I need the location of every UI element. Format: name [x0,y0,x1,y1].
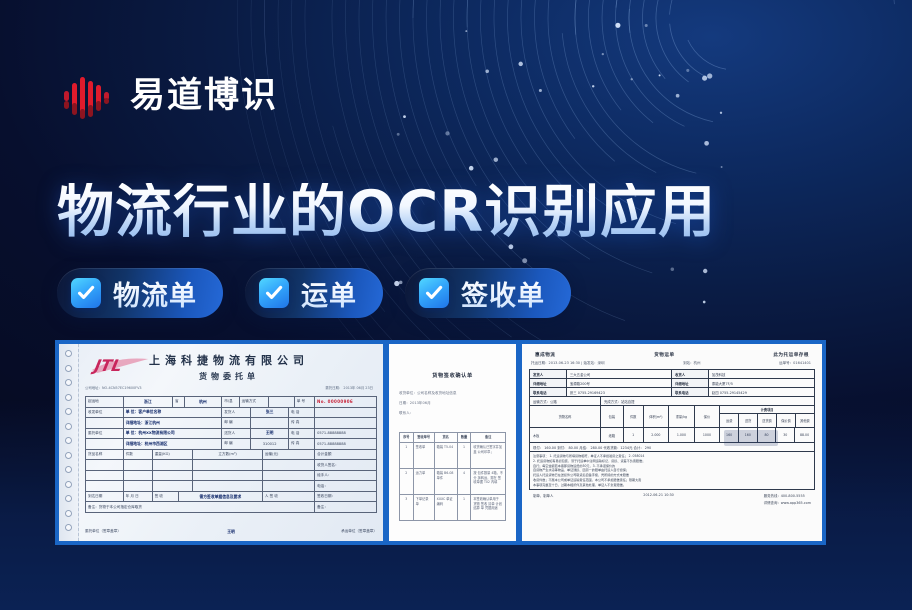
cell: 运输(元) [263,450,315,460]
table-row: 发货人 三大五金公司 收货人 加茂科技 [530,370,814,379]
table-row: 货品名称 件数 重量(KG) 立方数(m³) 运输(元) 合计金额 [86,450,376,461]
document-sample-gallery: JTL 上海科捷物流有限公司 货物委托单 公司地址：NO-4CN57EC1960… [55,340,826,545]
cell: 运输方式：公路 [530,397,601,405]
badge-waybill[interactable]: 运单 [245,268,383,318]
cell: 1000 [695,428,721,442]
cell: 1 [458,443,472,468]
doc1-meta-right: 委托日期： 2013年 06月 23日 [325,385,373,390]
table-row: 到达日期 年 月 日 签 收 需方签收单据信息及要求 人 签 收 签收日期： [86,492,376,503]
cell: 邮 编 [222,418,251,428]
svg-text:JTL: JTL [90,356,124,375]
table-row: 备注：货物于本公司指定仓库取货 备注： [86,502,376,512]
column-header: 件数 [624,406,644,427]
cell: 重量(KG) [153,450,194,460]
column-header: 送货费 [758,414,777,427]
column-header: 数量 [458,433,472,442]
column-header: 货物名称 [530,406,601,427]
table-row: 详细地址：浙江杭州 邮 编 传 真 [86,418,376,429]
table-row: 运输方式：公路 完成方式：站站自提 [530,397,814,406]
cell: 邮 编 [222,439,251,449]
cell: 货品名称 [86,450,124,460]
table-header-row: 序号 签收单号 货名 数量 备注 [400,433,505,443]
column-header: 计费项目 [720,406,814,414]
cell: 立方数(m³) [193,450,263,460]
cell: 电 话 [289,408,315,418]
cell: 委托单位 [86,429,124,439]
cell: 收货人 [672,370,709,378]
doc1-footer: 委托单位（签章盖章） 王明 承运单位（签章盖章） [85,529,377,535]
cell: 浙江 [124,397,173,407]
cell: 赵四 0755-29145429 [709,388,814,396]
cell: 经手人： [315,471,376,481]
cell: 详细地址：浙江杭州 [124,418,223,428]
cell: 泰能大厦7F/5 [709,379,814,387]
doc3-website: 详情查询：www.app365.com [764,501,811,505]
cell: 起运地 [86,397,124,407]
doc3-title: 货物运单 [654,352,674,358]
cell: 宝源路200号 [567,379,672,387]
cell: 备注： [315,502,376,512]
cell: XXXC 单证编码 [435,495,458,520]
cell: 30 [776,428,795,442]
cell: 本签收确认单用于 货物 签收 清单 计划结算 单 凭据用途 [471,495,505,520]
cell [86,418,124,428]
badge-label: 物流单 [113,274,197,313]
cell: 备注：货物于本公司指定仓库取货 [86,502,315,512]
cell: 详细地址：杭州市西湖区 [124,439,223,449]
cell: 加茂科技 [709,370,814,378]
cell: 人 签 收 [263,492,315,502]
cell [86,439,124,449]
cell: 详细地址 [530,379,567,387]
cell: 完成方式：站站自提 [601,397,814,405]
cell: 收货人签名： [315,460,376,470]
badge-label: 运单 [301,274,357,313]
cell: 传 真 [289,439,315,449]
doc2-table: 序号 签收单号 货名 数量 备注 1 签收单 箱装 T5-04 1 收货确认已签… [399,432,506,521]
cell: 电话： [315,481,376,491]
table-row: 经手人： [86,471,376,482]
cell: 年 月 日 [124,492,153,502]
cell: 省 [173,397,185,407]
badge-label: 签收单 [461,274,545,313]
doc3-copy-label: 此为托运单存根 [773,352,809,358]
cell: 3 [400,495,414,520]
column-header: 重量/kg [669,406,695,427]
doc3-footer: 制单、制单人 2012-06-21 10:30 服务热线：400-800-555… [529,490,815,505]
cell: 88.00 [795,428,814,442]
cell: 运输方式 [240,397,269,407]
doc3-subheader: 托运日期：2013-06-23 16:30 | 始发站：深圳 到站：杭州 运单号… [529,358,815,369]
doc3-footer-date: 2012-06-21 10:30 [643,493,674,505]
column-header: 其他费 [796,414,814,427]
column-header: 送货 [739,414,758,427]
column-header: 保价费 [777,414,796,427]
doc1-meta: 公司地址：NO-4CN57EC19600FV3 委托日期： 2013年 06月 … [85,385,373,390]
doc3-stamp-overlay [724,430,778,446]
column-header: 运费 [720,414,739,427]
cell: 箱装 B6-08单件 [435,469,458,494]
cell: 发货人 [530,370,567,378]
table-row: 收货人签名： [86,460,376,471]
doc3-footer-left: 制单、制单人 [533,493,553,505]
column-header: 保价 [695,406,721,427]
cell: 联系电话 [672,388,709,396]
cell: 需方签收单据信息及要求 [179,492,263,502]
cell: 纸箱 [601,428,624,442]
cell: 到达日期 [86,492,124,502]
cell: 电 话 [289,429,315,439]
table-row: 1 签收单 箱装 T5-04 1 收货确认已签字并加盖 公司印章； [400,443,505,469]
cell: 张三 [251,408,289,418]
cell: 2 [400,469,414,494]
feature-badge-list: 物流单 运单 签收单 [57,268,571,318]
document-logistics-consignment-note[interactable]: JTL 上海科捷物流有限公司 货物委托单 公司地址：NO-4CN57EC1960… [55,340,386,545]
tractor-feed-holes [59,344,79,541]
badge-receipt-note[interactable]: 签收单 [405,268,571,318]
table-row: 2 运力单 箱装 B6-08单件 4 按 包件数量 4箱，不分 拆转运，需在 签… [400,469,505,495]
cell: 下单记录 单 [414,495,435,520]
brand-name: 易道博识 [130,79,278,114]
cell: 签收单 [414,443,435,468]
cell: 0571-88888888 [315,429,376,439]
soundwave-circle-logo-icon [58,68,114,124]
badge-logistics-note[interactable]: 物流单 [57,268,223,318]
check-icon [419,278,449,308]
cell: 市/县 [222,397,239,407]
table-row: 3 下单记录 单 XXXC 单证编码 1 本签收确认单用于 货物 签收 清单 计… [400,495,505,521]
column-header: 序号 [400,433,414,442]
column-header: 包装 [601,406,624,427]
cell: 传 真 [289,418,315,428]
cell: 签 收 [153,492,179,502]
table-row: 详细地址 宝源路200号 详细地址 泰能大厦7F/5 [530,379,814,388]
cell [251,418,289,428]
doc2-line: 联系人： [399,411,506,416]
document-goods-receipt-confirmation[interactable]: 货物签收确认单 收货单位：公司名称及收货地址信息 日期：2013年06月 联系人… [386,340,519,545]
cell: 三大五金公司 [567,370,672,378]
doc3-carrier: 惠成物流 [535,352,555,358]
cell: 送货人 [222,429,251,439]
check-icon [71,278,101,308]
cell [315,418,376,428]
cell: 签收日期： [315,492,376,502]
doc3-goods-header: 货物名称 包装 件数 体积(m³) 重量/kg 保价 计费项目 运费 送货 送货… [530,406,814,428]
check-icon [259,278,289,308]
hero-banner: 易道博识 物流行业的OCR识别应用 物流单 运单 [0,0,912,610]
page-title: 物流行业的OCR识别应用 [57,183,716,243]
doc3-waybill-no: 运单号：01641401 [779,361,811,366]
cell [315,408,376,418]
column-header: 体积(m³) [644,406,670,427]
doc3-notice: 注意事项： 1. 托运货物与所填货物相符，单证人不承担验货之责任； 2. 058… [530,452,814,490]
carrier-logo-icon: JTL [86,352,154,378]
column-header: 货名 [435,433,458,442]
doc2-title: 货物签收确认单 [399,372,506,379]
doc1-table: 起运地 浙江 省 杭州 市/县 运输方式 单 号 No. 00000906 收发… [85,396,377,513]
table-row: 委托单位 单 位：杭州XX物流有限公司 送货人 王明 电 话 0571-8888… [86,429,376,440]
doc2-line: 收货单位：公司名称及收货地址信息 [399,391,506,396]
doc1-footer-signature: 王明 [227,529,235,535]
cell: 1.000 [669,428,695,442]
doc3-header: 惠成物流 货物运单 此为托运单存根 [529,350,815,358]
cell: 箱装 T5-04 [435,443,458,468]
cell: 310012 [251,439,289,449]
cell [269,397,295,407]
table-row: 起运地 浙江 省 杭州 市/县 运输方式 单 号 No. 00000906 [86,397,376,408]
cell: 单 号 [295,397,315,407]
cell: 单 位：客户单位名称 [124,408,223,418]
doc3-ship-date: 托运日期：2013-06-23 16:30 | 始发站：深圳 [531,361,604,366]
cell: 4 [458,469,472,494]
table-row: 详细地址：杭州市西湖区 邮 编 310012 传 真 0571-88888888 [86,439,376,450]
doc2-info-lines: 收货单位：公司名称及收货地址信息 日期：2013年06月 联系人： [399,391,506,416]
cell: 2.000 [644,428,670,442]
cell: 运力单 [414,469,435,494]
cell: 1 [624,428,644,442]
column-header: 备注 [471,433,505,442]
cell: 件数 [124,450,153,460]
cell: 收发单位 [86,408,124,418]
doc1-meta-left: 公司地址：NO-4CN57EC19600FV3 [85,385,142,390]
doc3-service-hotline: 服务热线：400-800-5555 [764,494,805,498]
cell: 发货人 [222,408,251,418]
doc1-footer-right: 承运单位（签章盖章） [341,529,377,535]
column-header: 签收单号 [414,433,435,442]
cell: 张三 0755-29169423 [567,388,672,396]
doc1-footer-left: 委托单位（签章盖章） [85,529,121,535]
doc2-line: 日期：2013年06月 [399,401,506,406]
cell: 单 位：杭州XX物流有限公司 [124,429,223,439]
table-row: 收发单位 单 位：客户单位名称 发货人 张三 电 话 [86,408,376,419]
cell: 详细地址 [672,379,709,387]
cell: 收货确认已签字并加盖 公司印章； [471,443,505,468]
cell: 杭州 [185,397,223,407]
cell: 合计金额 [315,450,376,460]
document-freight-waybill[interactable]: 惠成物流 货物运单 此为托运单存根 托运日期：2013-06-23 16:30 … [519,340,826,545]
cell: 按 包件数量 4箱，不分 拆转运，需在 签收单据 T02 内填 [471,469,505,494]
cell: 王明 [251,429,289,439]
table-row: 联系电话 张三 0755-29169423 联系电话 赵四 0755-29145… [530,388,814,397]
cell: No. 00000906 [315,397,376,407]
cell: 0571-88888888 [315,439,376,449]
cell: 木板 [530,428,601,442]
cell: 联系电话 [530,388,567,396]
doc3-destination: 到站：杭州 [683,361,701,366]
table-row: 电话： [86,481,376,492]
brand-logo[interactable]: 易道博识 [58,68,278,124]
cell: 1 [458,495,472,520]
cell: 1 [400,443,414,468]
